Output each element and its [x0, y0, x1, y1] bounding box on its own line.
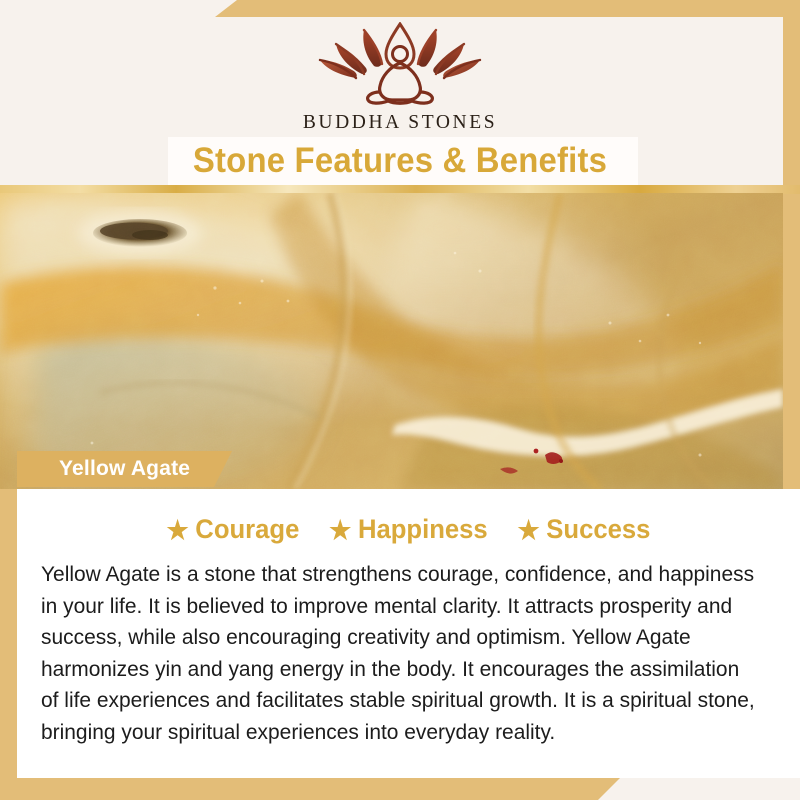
frame-bottom-left-tip — [0, 778, 30, 800]
stone-name-badge: Yellow Agate — [17, 451, 232, 487]
stone-name-label: Yellow Agate — [17, 457, 190, 481]
benefit-keywords: ★ Courage ★ Happiness ★ Success — [17, 514, 800, 545]
keyword-happiness: ★ Happiness — [329, 514, 488, 545]
star-icon: ★ — [517, 517, 539, 543]
keyword-label: Courage — [195, 514, 299, 545]
lotus-meditation-figure-icon — [312, 22, 488, 106]
keyword-success: ★ Success — [517, 514, 650, 545]
frame-bottom-band — [0, 778, 620, 800]
star-icon: ★ — [329, 517, 351, 543]
frame-left-band — [0, 466, 17, 778]
keyword-label: Happiness — [358, 514, 488, 545]
infographic-page: BUDDHA STONES Stone Features & Benefits — [0, 0, 800, 800]
stone-photo — [0, 193, 783, 489]
keyword-courage: ★ Courage — [167, 514, 300, 545]
keyword-label: Success — [546, 514, 650, 545]
star-icon: ★ — [167, 517, 189, 543]
frame-top-band — [215, 0, 800, 17]
brand-name: BUDDHA STONES — [303, 112, 497, 134]
stone-texture-graphic — [0, 193, 783, 489]
page-title: Stone Features & Benefits — [24, 141, 776, 181]
brand-logo: BUDDHA STONES — [0, 22, 800, 134]
stone-description: Yellow Agate is a stone that strengthens… — [41, 558, 757, 747]
